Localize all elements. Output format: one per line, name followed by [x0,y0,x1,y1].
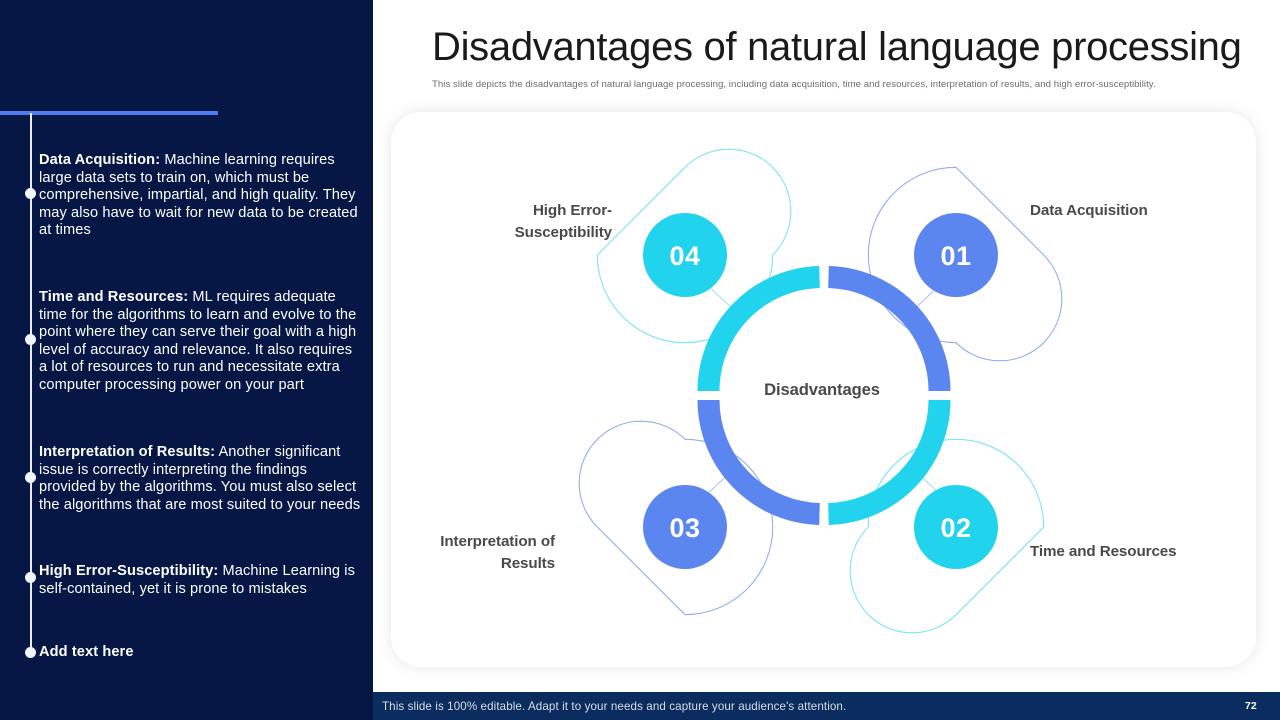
node-01-label: Data Acquisition [1030,200,1180,222]
timeline-dot [25,334,36,345]
ring-segment-bottom-left [709,400,820,514]
node-03-label: Interpretation of Results [430,531,555,575]
sidebar-item-time-and-resources[interactable]: Time and Resources: ML requires adequate… [39,289,361,395]
node-04[interactable]: 04 [579,123,835,379]
sidebar-item-title: High Error-Susceptibility: [39,563,218,579]
sidebar-item-interpretation-of-results[interactable]: Interpretation of Results: Another signi… [39,444,361,514]
footer-note: This slide is 100% editable. Adapt it to… [382,700,846,713]
diagram-center-label: Disadvantages [720,380,924,400]
ring-segment-top-left [709,277,820,391]
sidebar-item-title: Data Acquisition: [39,152,160,168]
node-02-number: 02 [940,513,971,543]
sidebar-accent-line [0,111,218,115]
page-subtitle: This slide depicts the disadvantages of … [432,78,1262,91]
timeline-dot [25,572,36,583]
sidebar-item-title: Interpretation of Results: [39,444,215,460]
timeline-dot [25,472,36,483]
page-number: 72 [1245,700,1257,712]
slide-canvas: Data Acquisition: Machine learning requi… [0,0,1280,720]
sidebar-item-add-text-here[interactable]: Add text here [39,644,361,662]
sidebar-item-title: Add text here [39,644,134,660]
node-04-number: 04 [669,241,700,271]
ring-segment-top-right [829,277,940,391]
sidebar-item-title: Time and Resources: [39,289,188,305]
timeline-dot [25,188,36,199]
page-title: Disadvantages of natural language proces… [432,23,1242,71]
sidebar-panel: Data Acquisition: Machine learning requi… [0,0,373,720]
timeline-dot [25,647,36,658]
sidebar-item-data-acquisition[interactable]: Data Acquisition: Machine learning requi… [39,152,361,240]
node-02-label: Time and Resources [1030,541,1220,563]
node-04-label: High Error-Susceptibility [490,200,612,244]
ring-segment-bottom-right [829,400,940,514]
node-03-number: 03 [669,513,700,543]
sidebar-item-high-error-susceptibility[interactable]: High Error-Susceptibility: Machine Learn… [39,563,361,598]
node-01-number: 01 [940,241,971,271]
